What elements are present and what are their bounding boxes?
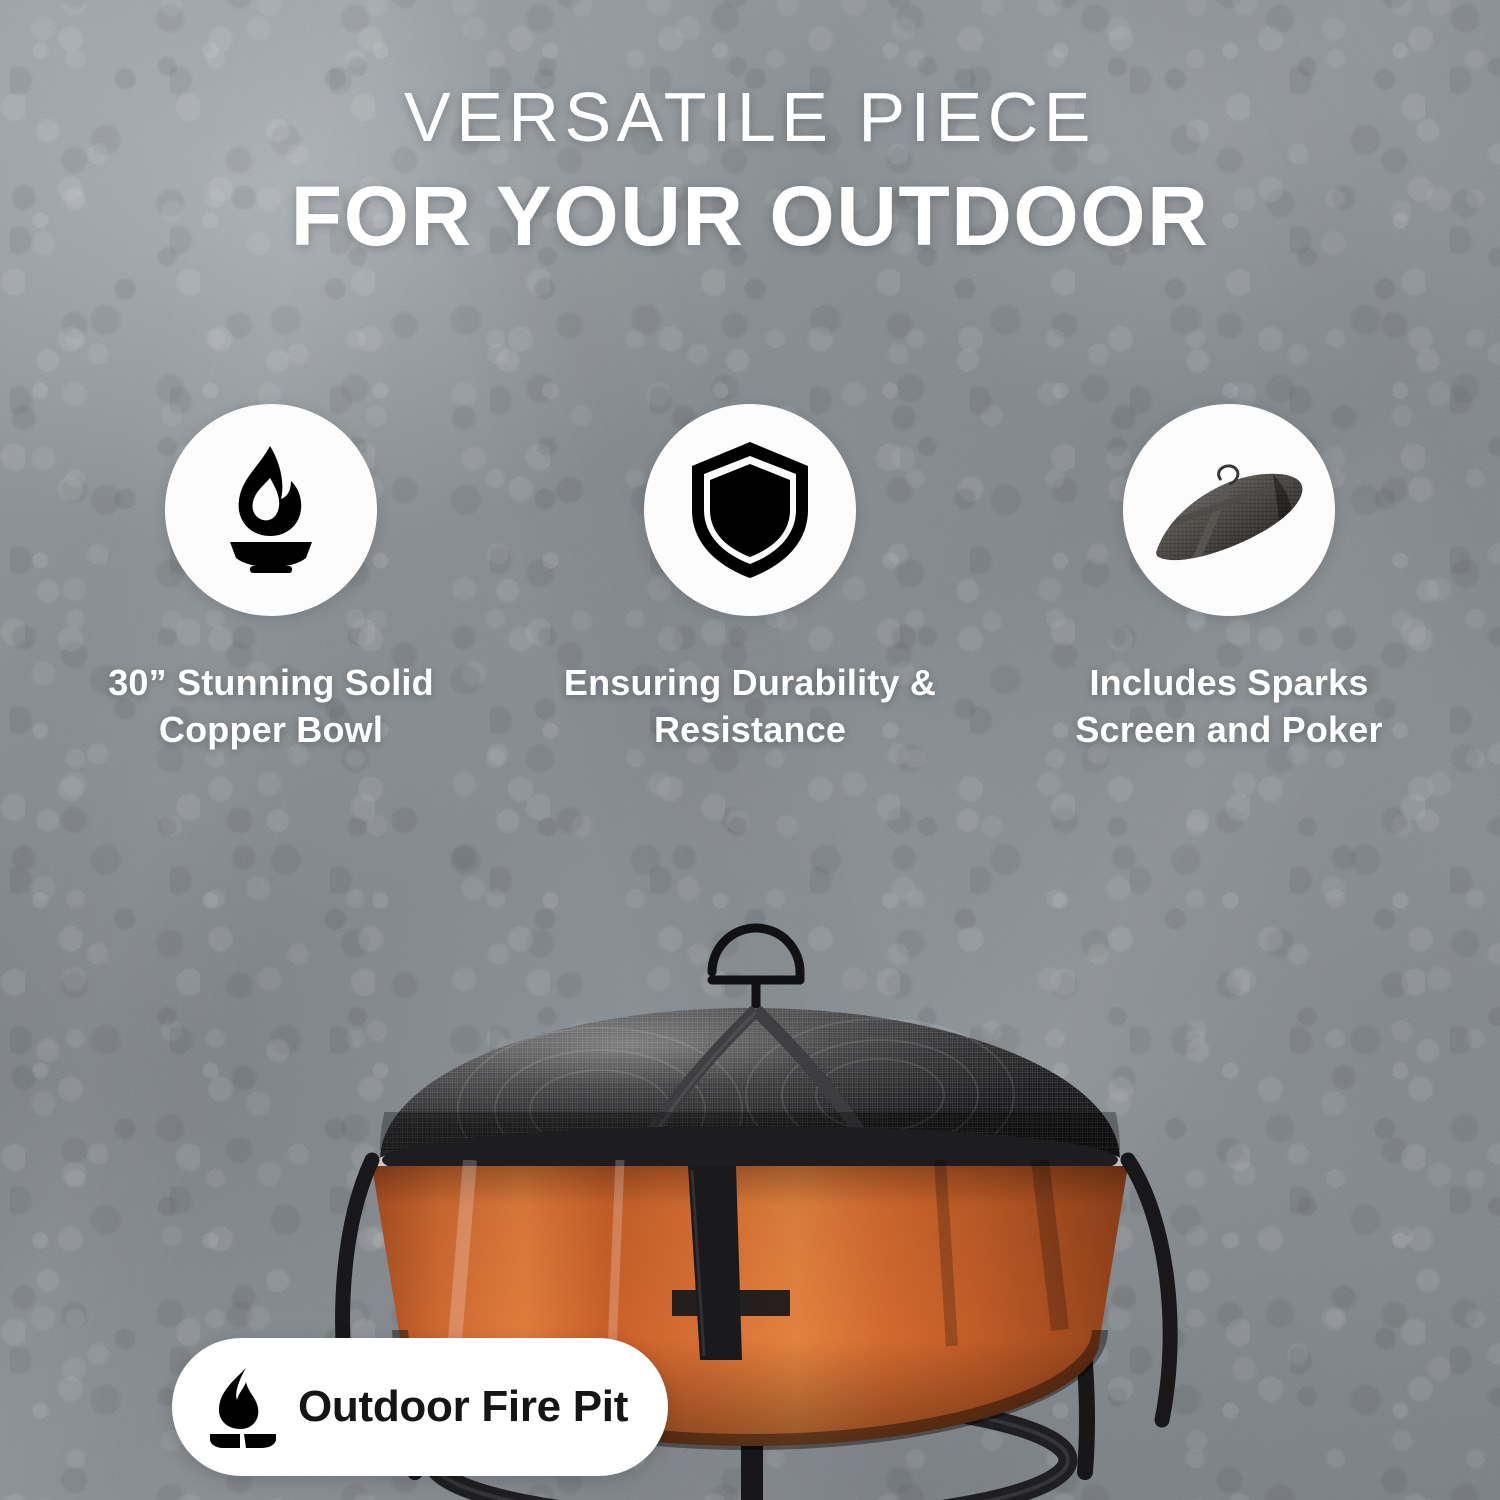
flame-over-bowl-icon [206,1366,280,1448]
feature-icon-circle [1123,404,1335,616]
feature-caption: Ensuring Durability & Resistance [550,660,950,754]
feature-item-sparks-screen: Includes Sparks Screen and Poker [1014,404,1444,754]
feature-caption: Includes Sparks Screen and Poker [1029,660,1429,754]
feature-item-copper-bowl: 30” Stunning Solid Copper Bowl [56,404,486,754]
spark-screen-dome-icon [1143,452,1315,568]
badge-label: Outdoor Fire Pit [298,1382,628,1432]
feature-item-durability: Ensuring Durability & Resistance [535,404,965,754]
headline-line-1: VERSATILE PIECE [0,82,1500,152]
fire-pit-flame-bowl-icon [206,442,336,578]
headline-block: VERSATILE PIECE FOR YOUR OUTDOOR [0,82,1500,258]
feature-caption: 30” Stunning Solid Copper Bowl [71,660,471,754]
status-badge[interactable]: Outdoor Fire Pit [172,1338,668,1476]
feature-icon-circle [644,404,856,616]
shield-icon [688,440,812,580]
screen-handle-loop [712,928,800,1012]
feature-list: 30” Stunning Solid Copper Bowl Ensuring … [56,404,1444,754]
feature-icon-circle [165,404,377,616]
headline-line-2: FOR YOUR OUTDOOR [0,174,1500,258]
poster-canvas: VERSATILE PIECE FOR YOUR OUTDOOR 30” Stu… [0,0,1500,1500]
